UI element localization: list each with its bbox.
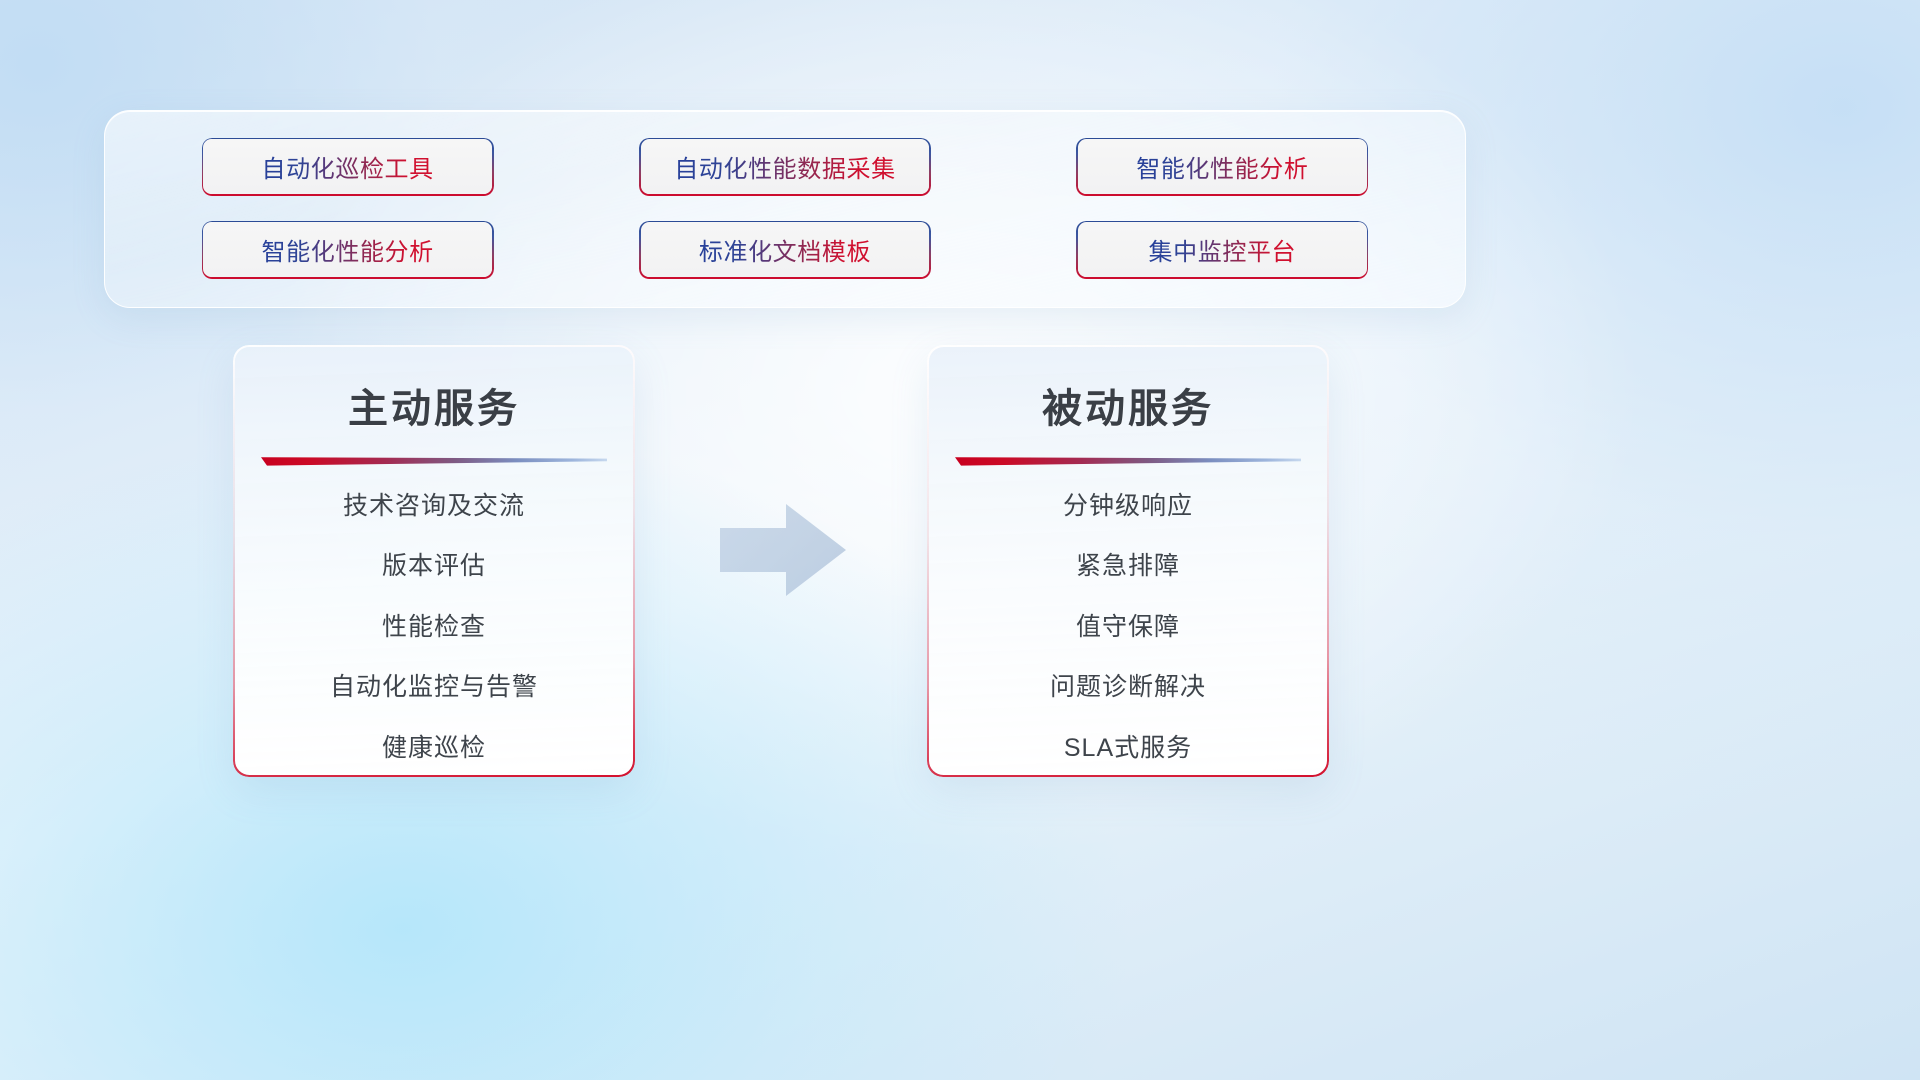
capability-pill-grid: 自动化巡检工具 自动化性能数据采集 智能化性能分析 智能化性能分析 标准化文档模… bbox=[105, 111, 1465, 307]
list-item: 问题诊断解决 bbox=[1050, 674, 1206, 702]
card-title: 被动服务 bbox=[1042, 376, 1214, 434]
capability-pill-label: 集中监控平台 bbox=[1149, 232, 1297, 267]
card-item-list: 技术咨询及交流 版本评估 性能检查 自动化监控与告警 健康巡检 bbox=[235, 493, 634, 763]
service-card-reactive: 被动服务 bbox=[927, 345, 1329, 777]
card-body: 被动服务 bbox=[929, 347, 1328, 776]
list-item: 值守保障 bbox=[1076, 614, 1180, 642]
service-card-proactive: 主动服务 bbox=[233, 345, 635, 777]
list-item: 自动化监控与告警 bbox=[330, 674, 538, 702]
list-item: SLA式服务 bbox=[1064, 735, 1192, 763]
capability-pill[interactable]: 智能化性能分析 bbox=[202, 221, 494, 279]
right-arrow-icon bbox=[712, 498, 852, 602]
capability-pill-label: 智能化性能分析 bbox=[262, 232, 434, 267]
capability-pill[interactable]: 集中监控平台 bbox=[1076, 221, 1368, 279]
title-divider bbox=[955, 456, 1301, 467]
capability-pill[interactable]: 自动化性能数据采集 bbox=[639, 138, 931, 196]
list-item: 紧急排障 bbox=[1076, 553, 1180, 581]
capability-pill-label: 自动化巡检工具 bbox=[262, 149, 434, 184]
list-item: 技术咨询及交流 bbox=[343, 493, 525, 521]
card-title: 主动服务 bbox=[348, 376, 520, 434]
capability-pill[interactable]: 智能化性能分析 bbox=[1076, 138, 1368, 196]
list-item: 性能检查 bbox=[382, 614, 486, 642]
capability-pill[interactable]: 标准化文档模板 bbox=[639, 221, 931, 279]
capabilities-panel: 自动化巡检工具 自动化性能数据采集 智能化性能分析 智能化性能分析 标准化文档模… bbox=[104, 110, 1466, 308]
title-divider bbox=[261, 456, 607, 467]
capability-pill-label: 智能化性能分析 bbox=[1136, 149, 1308, 184]
list-item: 健康巡检 bbox=[382, 735, 486, 763]
capability-pill[interactable]: 自动化巡检工具 bbox=[202, 138, 494, 196]
infographic-canvas: 自动化巡检工具 自动化性能数据采集 智能化性能分析 智能化性能分析 标准化文档模… bbox=[0, 0, 1920, 1080]
card-body: 主动服务 bbox=[235, 347, 634, 776]
card-item-list: 分钟级响应 紧急排障 值守保障 问题诊断解决 SLA式服务 bbox=[929, 493, 1328, 763]
capability-pill-label: 标准化文档模板 bbox=[699, 232, 871, 267]
list-item: 分钟级响应 bbox=[1063, 493, 1193, 521]
list-item: 版本评估 bbox=[382, 553, 486, 581]
capability-pill-label: 自动化性能数据采集 bbox=[674, 149, 895, 184]
